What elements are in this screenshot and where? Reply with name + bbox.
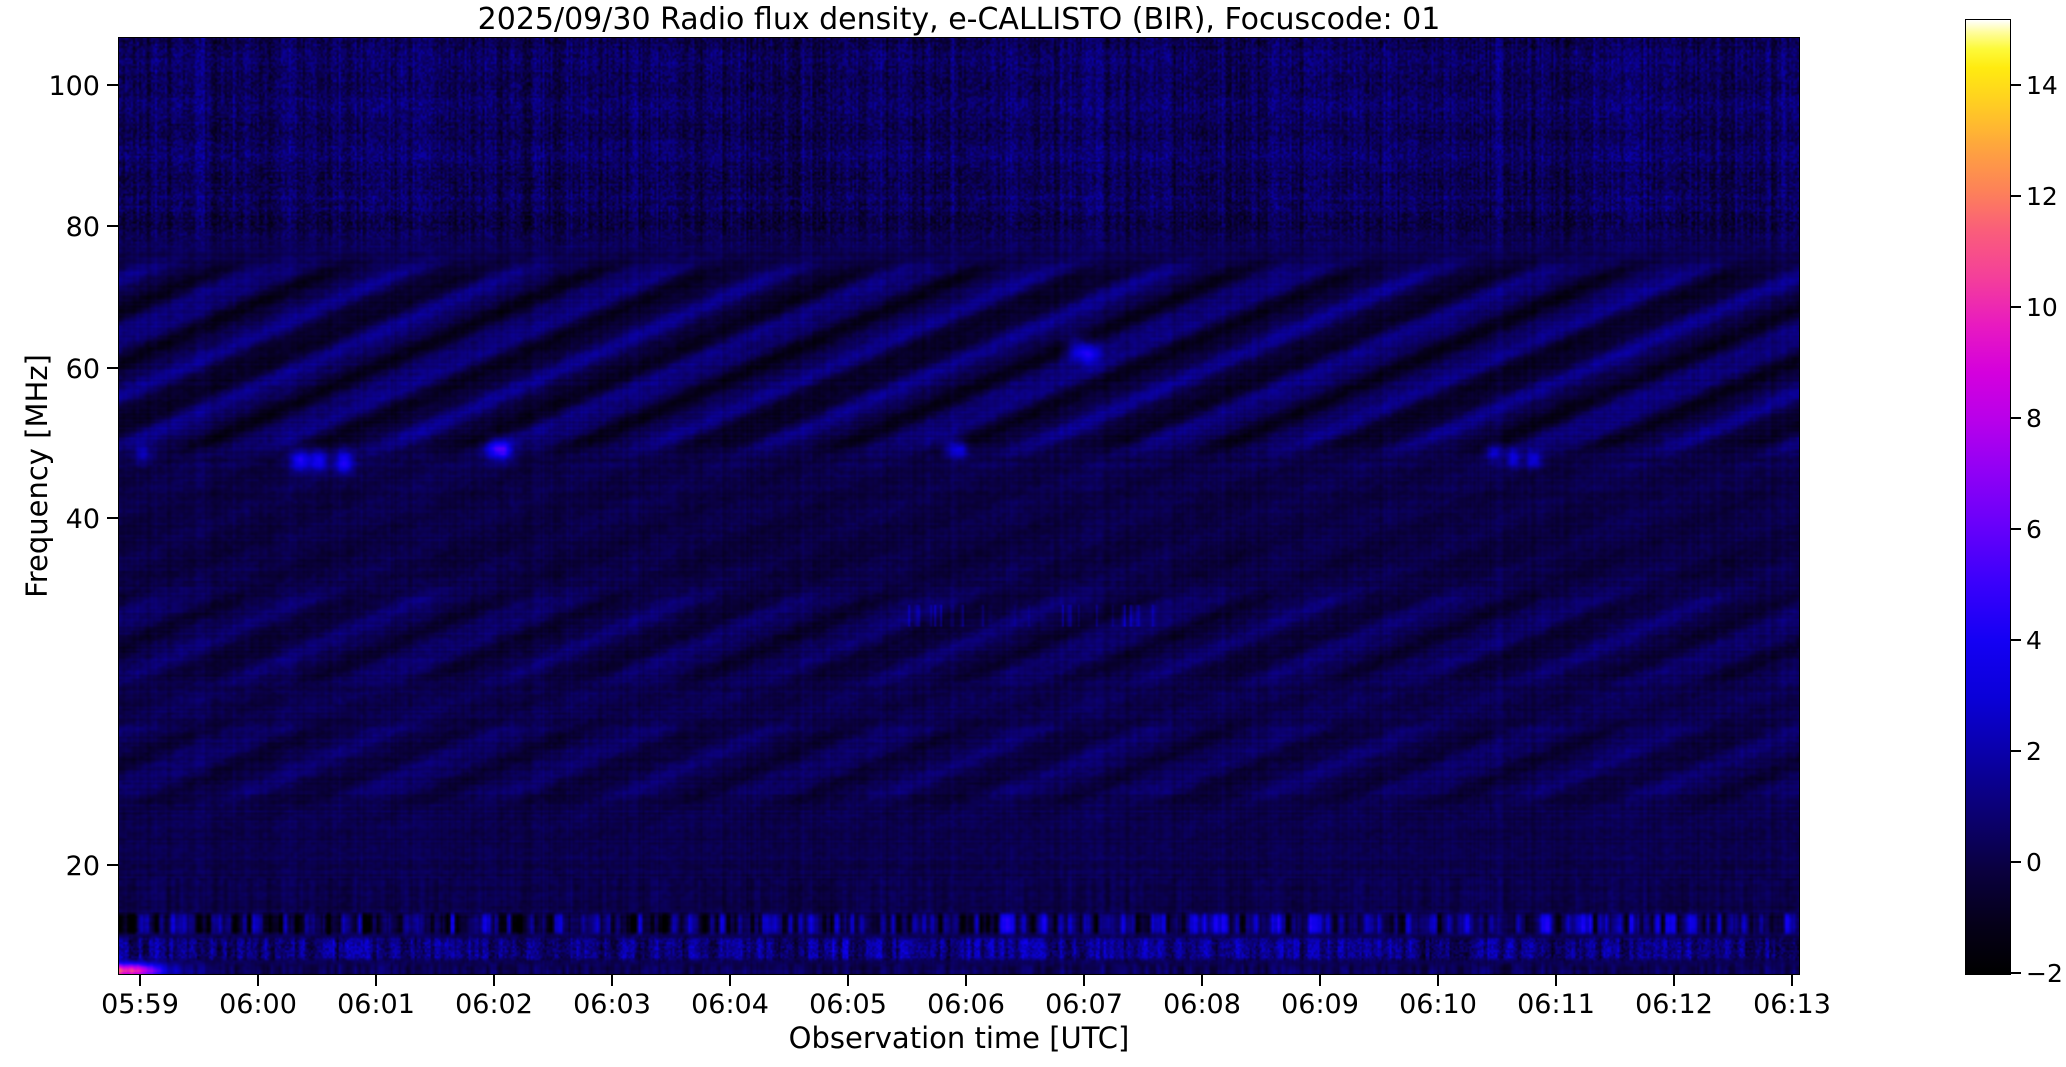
colorbar-tick-mark [2011,861,2021,863]
colorbar[interactable] [1965,19,2011,975]
colorbar-tick-label: 12 [2026,184,2058,209]
colorbar-tick-mark [2011,195,2021,197]
colorbar-tick-label: 8 [2026,406,2042,431]
spectrogram-axes[interactable] [118,37,1800,975]
x-tick-mark [1555,975,1557,986]
x-tick-mark [1201,975,1203,986]
colorbar-tick-label: 14 [2026,73,2058,98]
x-tick-mark [611,975,613,986]
y-tick-mark [107,84,118,86]
colorbar-tick-mark [2011,639,2021,641]
y-tick-mark [107,367,118,369]
colorbar-tick-label: 4 [2026,628,2042,653]
x-tick-mark [965,975,967,986]
x-axis-label: Observation time [UTC] [118,1022,1800,1054]
colorbar-tick-mark [2011,84,2021,86]
y-tick-label-80: 80 [20,212,100,243]
y-tick-mark [107,864,118,866]
page-title: 2025/09/30 Radio flux density, e-CALLIST… [0,2,1918,38]
x-tick-mark [1083,975,1085,986]
colorbar-tick-label: 0 [2026,850,2042,875]
x-tick-mark [493,975,495,986]
x-tick-mark [1791,975,1793,986]
x-tick-mark [1673,975,1675,986]
x-tick-mark [1437,975,1439,986]
colorbar-tick-label: 6 [2026,517,2042,542]
colorbar-tick-label: 10 [2026,295,2058,320]
colorbar-tick-mark [2011,528,2021,530]
colorbar-tick-label: −2 [2026,961,2063,986]
x-tick-label-06-13: 06:13 [1712,990,1872,1020]
x-tick-mark [1319,975,1321,986]
x-tick-mark [375,975,377,986]
colorbar-tick-mark [2011,750,2021,752]
y-tick-mark [107,517,118,519]
x-tick-mark [257,975,259,986]
x-tick-mark [139,975,141,986]
y-tick-mark [107,225,118,227]
colorbar-tick-mark [2011,306,2021,308]
colorbar-tick-mark [2011,972,2021,974]
y-tick-label-100: 100 [20,71,100,102]
spectrogram-figure: 2025/09/30 Radio flux density, e-CALLIST… [0,0,2066,1067]
spectrogram-image[interactable] [119,38,1799,974]
colorbar-tick-label: 2 [2026,739,2042,764]
x-tick-mark [729,975,731,986]
y-axis-label: Frequency [MHz] [21,276,53,676]
y-tick-label-20: 20 [20,851,100,882]
colorbar-tick-mark [2011,417,2021,419]
x-tick-mark [847,975,849,986]
